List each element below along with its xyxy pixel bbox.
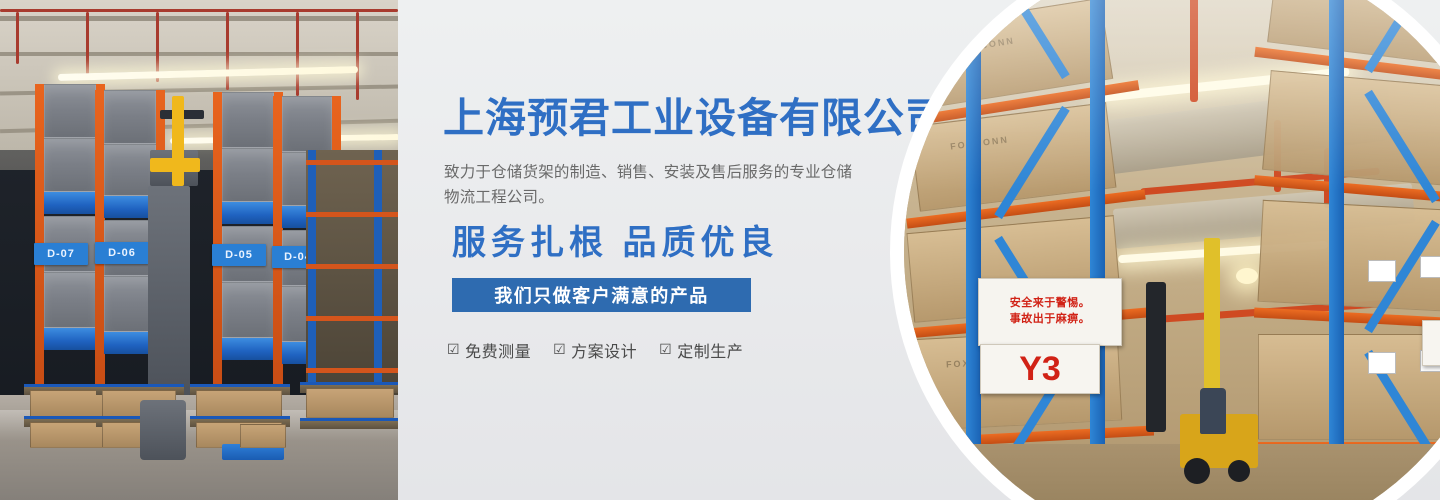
checkbox-checked-icon: ☑ xyxy=(659,343,672,357)
left-warehouse-photo: D-07 D-06 D-05 xyxy=(0,0,398,500)
banner-content: 上海预君工业设备有限公司 致力于仓储货架的制造、销售、安装及售后服务的专业仓储物… xyxy=(443,0,913,500)
rack-label-d05: D-05 xyxy=(212,244,266,266)
circular-photo-frame: FOXCONN FOXCONN FOXCONN xyxy=(890,0,1440,500)
shelf-tag xyxy=(1368,352,1396,374)
rack-bay xyxy=(44,84,96,384)
forklift-wheel xyxy=(1228,460,1250,482)
rack-upright xyxy=(308,150,316,395)
rack-label-d07: D-07 xyxy=(34,243,88,265)
carton xyxy=(30,422,104,448)
cta-button[interactable]: 我们只做客户满意的产品 xyxy=(452,278,751,312)
forklift-operator xyxy=(1200,388,1226,434)
banner-slogan: 服务扎根 品质优良 xyxy=(452,226,778,260)
feature-label: 方案设计 xyxy=(571,338,637,362)
ceiling-beam xyxy=(0,16,398,21)
side-racking xyxy=(306,150,398,395)
feature-label: 免费测量 xyxy=(465,338,531,362)
sprinkler-drop xyxy=(86,12,89,74)
right-warehouse-photo: FOXCONN FOXCONN FOXCONN xyxy=(904,0,1440,500)
checkbox-checked-icon: ☑ xyxy=(553,343,566,357)
feature-list: ☑ 免费测量 ☑ 方案设计 ☑ 定制生产 xyxy=(447,338,743,362)
stacked-crate xyxy=(44,272,96,328)
carton xyxy=(240,424,286,448)
aisle-sign-y3-left: Y3 xyxy=(980,344,1100,394)
aisle-sign-y3-right: Y3 xyxy=(1422,320,1440,366)
feature-label: 定制生产 xyxy=(677,338,743,362)
sprinkler-drop xyxy=(226,12,229,90)
rack-beam xyxy=(306,212,398,217)
stacked-crate xyxy=(282,96,332,152)
carton xyxy=(30,390,104,418)
rack-beam xyxy=(306,368,398,373)
shelf-tag xyxy=(1368,260,1396,282)
feature-item-custom-production: ☑ 定制生产 xyxy=(659,338,743,362)
stacked-crate xyxy=(104,90,156,144)
rack-bay xyxy=(222,92,274,390)
warning-line-1: 安全来于警惕。 xyxy=(1010,296,1091,312)
shelf-tag xyxy=(1420,256,1440,278)
rack-upright xyxy=(374,150,382,395)
carton xyxy=(196,390,282,418)
feature-item-solution-design: ☑ 方案设计 xyxy=(553,338,637,362)
warning-line-2: 事故出于麻痹。 xyxy=(1010,312,1091,328)
company-subtitle: 致力于仓储货架的制造、销售、安装及售后服务的专业仓储物流工程公司。 xyxy=(444,160,856,210)
company-title: 上海预君工业设备有限公司 xyxy=(443,98,947,139)
pallet-truck xyxy=(140,400,186,460)
low-rack-beam xyxy=(300,418,398,429)
carton xyxy=(306,388,394,418)
photo-highlight xyxy=(904,0,1440,192)
rack-beam xyxy=(306,160,398,165)
checkbox-checked-icon: ☑ xyxy=(447,343,460,357)
sprinkler-drop xyxy=(356,12,359,100)
stacked-crate xyxy=(222,148,274,202)
ceiling-beam xyxy=(0,52,398,56)
rack-beam xyxy=(1254,307,1440,330)
rack-beam xyxy=(306,316,398,321)
rack-label-d06: D-06 xyxy=(95,242,149,264)
promo-banner: D-07 D-06 D-05 xyxy=(0,0,1440,500)
warehouse-floor xyxy=(904,444,1440,500)
sprinkler-drop xyxy=(296,12,299,96)
stacked-crate xyxy=(222,92,274,148)
stacked-crate xyxy=(222,282,274,338)
feature-item-free-measurement: ☑ 免费测量 xyxy=(447,338,531,362)
sprinkler-pipe xyxy=(0,9,398,12)
stacked-crate xyxy=(44,138,96,192)
stacked-crate xyxy=(44,84,96,138)
stacker-mast xyxy=(172,96,184,186)
column-post xyxy=(1146,282,1166,432)
sprinkler-drop xyxy=(16,12,19,64)
forklift-wheel xyxy=(1184,458,1210,484)
rack-beam xyxy=(306,264,398,269)
safety-warning-sign: 安全来于警惕。 事故出于麻痹。 xyxy=(978,278,1122,346)
stacker-column xyxy=(148,186,190,396)
stacker-fork xyxy=(150,158,200,172)
